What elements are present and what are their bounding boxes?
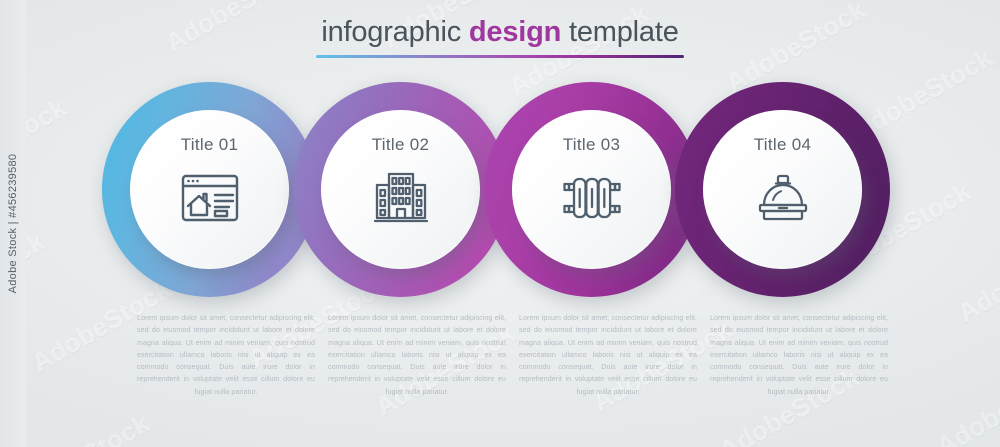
page-title: infographic design template: [0, 16, 1000, 48]
title-underline-rule: [316, 55, 684, 58]
descriptions-row: Lorem ipsum dolor sit amet, consectetur …: [0, 312, 1000, 422]
step-item-4[interactable]: Title 04: [675, 82, 890, 297]
step-description-4: Lorem ipsum dolor sit amet, consectetur …: [710, 312, 888, 398]
title-text-accent: design: [469, 16, 561, 48]
step-description-1: Lorem ipsum dolor sit amet, consectetur …: [137, 312, 315, 398]
step-title-4: Title 04: [754, 136, 812, 153]
step-item-3[interactable]: Title 03: [484, 82, 699, 297]
step-title-3: Title 03: [563, 136, 621, 153]
step-title-2: Title 02: [372, 136, 430, 153]
step-description-3: Lorem ipsum dolor sit amet, consectetur …: [519, 312, 697, 398]
browser-house-listing-icon: [179, 170, 241, 226]
step-disc-1: Title 01: [130, 110, 289, 269]
step-title-1: Title 01: [181, 136, 239, 153]
step-item-2[interactable]: Title 02: [293, 82, 508, 297]
step-description-2: Lorem ipsum dolor sit amet, consectetur …: [328, 312, 506, 398]
service-bell-icon: [752, 170, 814, 226]
hotel-building-icon: [370, 170, 432, 226]
radiator-heater-icon: [561, 170, 623, 226]
infographic-canvas: AdobeStockAdobeStockAdobeStockAdobeStock…: [0, 0, 1000, 447]
header: infographic design template: [0, 16, 1000, 58]
stock-credit-text: Adobe Stock | #456239580: [0, 0, 26, 447]
step-item-1[interactable]: Title 01: [102, 82, 317, 297]
title-text-lead: infographic: [321, 16, 469, 48]
step-disc-2: Title 02: [321, 110, 480, 269]
stock-credit-bar: Adobe Stock | #456239580: [0, 0, 26, 447]
step-disc-3: Title 03: [512, 110, 671, 269]
steps-row: Title 01: [0, 82, 1000, 297]
title-text-trail: template: [561, 16, 679, 48]
step-disc-4: Title 04: [703, 110, 862, 269]
